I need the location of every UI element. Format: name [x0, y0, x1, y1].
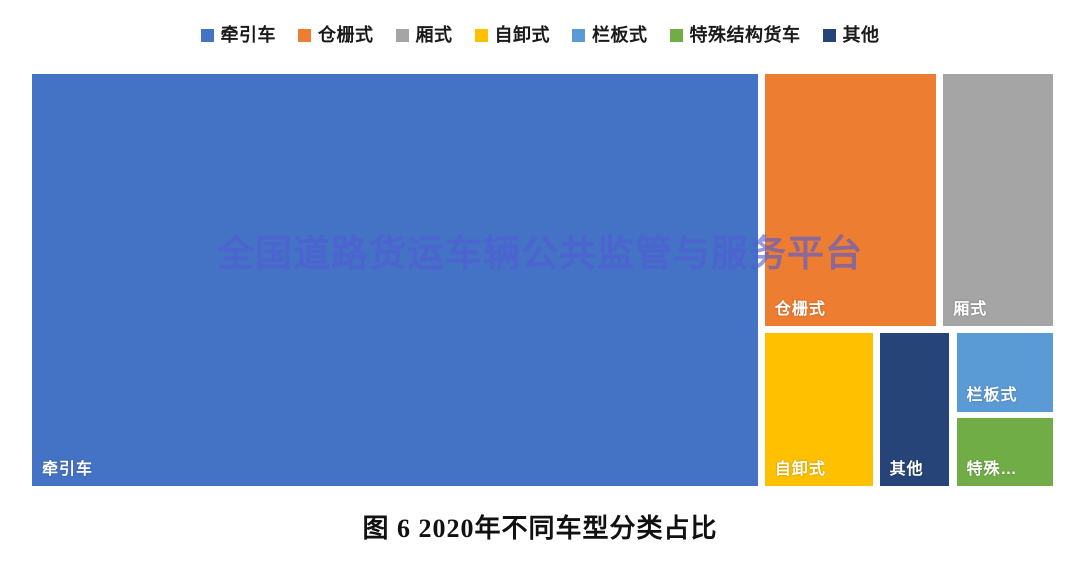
- legend-item-label: 特殊结构货车: [690, 25, 801, 45]
- legend-item-4[interactable]: 栏板式: [572, 25, 648, 45]
- legend-item-0[interactable]: 牵引车: [201, 25, 277, 45]
- legend-swatch-icon: [670, 29, 683, 42]
- legend-item-6[interactable]: 其他: [823, 25, 880, 45]
- legend-swatch-icon: [823, 29, 836, 42]
- treemap-cell-label: 特殊…: [967, 460, 1018, 480]
- legend-swatch-icon: [201, 29, 214, 42]
- legend-item-label: 其他: [843, 25, 880, 45]
- treemap-cell-4[interactable]: 其他: [878, 331, 952, 488]
- legend-item-1[interactable]: 仓栅式: [298, 25, 374, 45]
- treemap-cell-label: 其他: [890, 460, 924, 480]
- legend-swatch-icon: [298, 29, 311, 42]
- treemap-cell-3[interactable]: 自卸式: [763, 331, 875, 488]
- legend-swatch-icon: [396, 29, 409, 42]
- legend-item-2[interactable]: 厢式: [396, 25, 453, 45]
- legend-swatch-icon: [572, 29, 585, 42]
- treemap-cell-label: 栏板式: [967, 386, 1018, 406]
- treemap-cell-1[interactable]: 仓栅式: [763, 72, 938, 328]
- legend-item-5[interactable]: 特殊结构货车: [670, 25, 801, 45]
- treemap-cell-6[interactable]: 特殊…: [955, 416, 1055, 488]
- treemap-cell-label: 仓栅式: [775, 300, 826, 320]
- legend-item-label: 自卸式: [495, 25, 551, 45]
- treemap-cell-0[interactable]: 牵引车: [30, 72, 760, 488]
- legend-item-label: 仓栅式: [318, 25, 374, 45]
- treemap-cell-label: 自卸式: [775, 460, 826, 480]
- chart-legend: 牵引车 仓栅式 厢式 自卸式 栏板式 特殊结构货车 其他: [0, 18, 1080, 52]
- legend-item-label: 牵引车: [221, 25, 277, 45]
- treemap-cell-2[interactable]: 厢式: [941, 72, 1055, 328]
- legend-item-label: 厢式: [416, 25, 453, 45]
- legend-swatch-icon: [475, 29, 488, 42]
- legend-item-3[interactable]: 自卸式: [475, 25, 551, 45]
- treemap-cell-label: 牵引车: [42, 460, 93, 480]
- treemap-cell-5[interactable]: 栏板式: [955, 331, 1055, 414]
- legend-item-label: 栏板式: [592, 25, 648, 45]
- treemap-cell-label: 厢式: [953, 300, 987, 320]
- figure-caption: 图 6 2020年不同车型分类占比: [0, 512, 1080, 546]
- treemap-plot-area: 牵引车 仓栅式 厢式 自卸式 其他 栏板式 特殊…: [30, 72, 1055, 488]
